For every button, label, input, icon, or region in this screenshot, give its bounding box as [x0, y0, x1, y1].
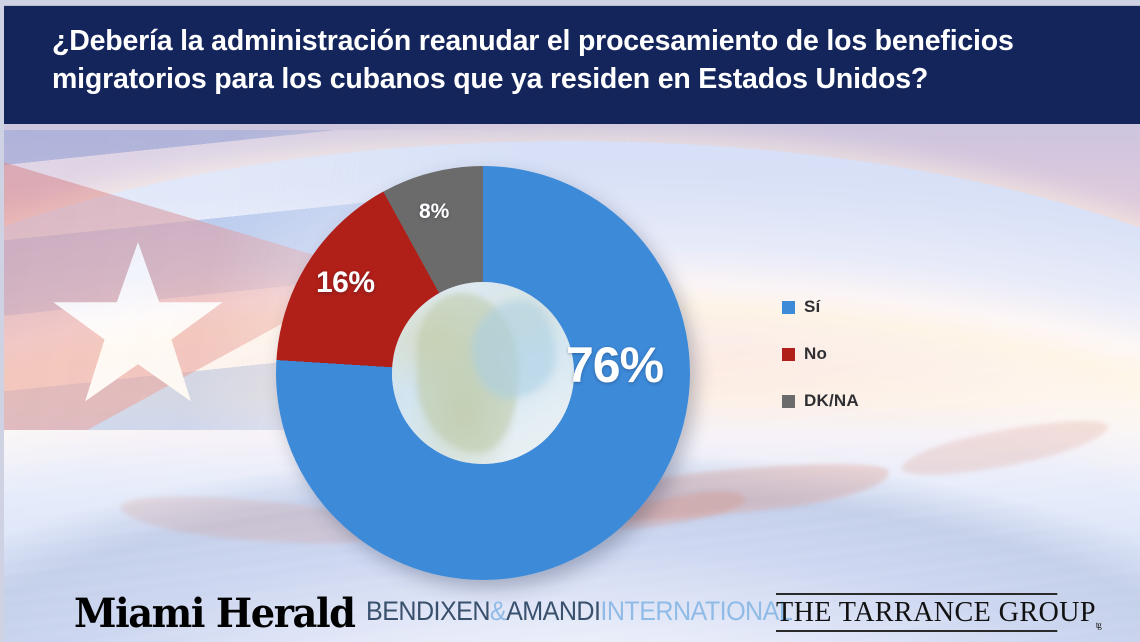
- legend-item-dkna[interactable]: DK/NA: [782, 390, 859, 412]
- tarrance-trademark: tg: [1096, 620, 1101, 630]
- poll-result-slide: ¿Debería la administración reanudar el p…: [0, 0, 1140, 642]
- slide-frame-top: [0, 0, 1140, 5]
- bendixen-amandi-logo: BENDIXEN&AMANDIINTERNATIONAL: [366, 598, 792, 625]
- question-banner: ¿Debería la administración reanudar el p…: [4, 6, 1140, 124]
- international-text: INTERNATIONAL: [600, 596, 792, 626]
- center-map-water: [472, 300, 556, 398]
- slice-label-si: 76%: [566, 336, 663, 394]
- legend-swatch-si: [782, 301, 795, 314]
- chart-legend: Sí No DK/NA: [782, 296, 859, 437]
- slice-label-no: 16%: [316, 266, 375, 300]
- donut-chart: 76% 16% 8%: [276, 166, 690, 580]
- donut-center-hole: [392, 282, 574, 464]
- slice-label-dkna: 8%: [419, 200, 449, 224]
- legend-label-si: Sí: [804, 297, 820, 317]
- tarrance-text: THE TARRANCE GROUP: [776, 596, 1096, 628]
- legend-swatch-no: [782, 348, 795, 361]
- legend-label-dkna: DK/NA: [804, 391, 859, 411]
- bendixen-ampersand: &: [490, 596, 506, 626]
- slide-frame-left: [0, 0, 4, 642]
- legend-item-si[interactable]: Sí: [782, 296, 859, 318]
- tarrance-group-logo: THE TARRANCE GROUPtg: [776, 593, 1057, 632]
- miami-herald-logo: Miami Herald: [74, 594, 355, 634]
- footer-logos: Miami Herald BENDIXEN&AMANDIINTERNATIONA…: [0, 572, 1140, 642]
- legend-label-no: No: [804, 344, 827, 364]
- page-title: ¿Debería la administración reanudar el p…: [4, 23, 1140, 106]
- legend-item-no[interactable]: No: [782, 343, 859, 365]
- bendixen-text: BENDIXEN: [366, 596, 490, 626]
- amandi-text: AMANDI: [506, 596, 600, 626]
- legend-swatch-dkna: [782, 395, 795, 408]
